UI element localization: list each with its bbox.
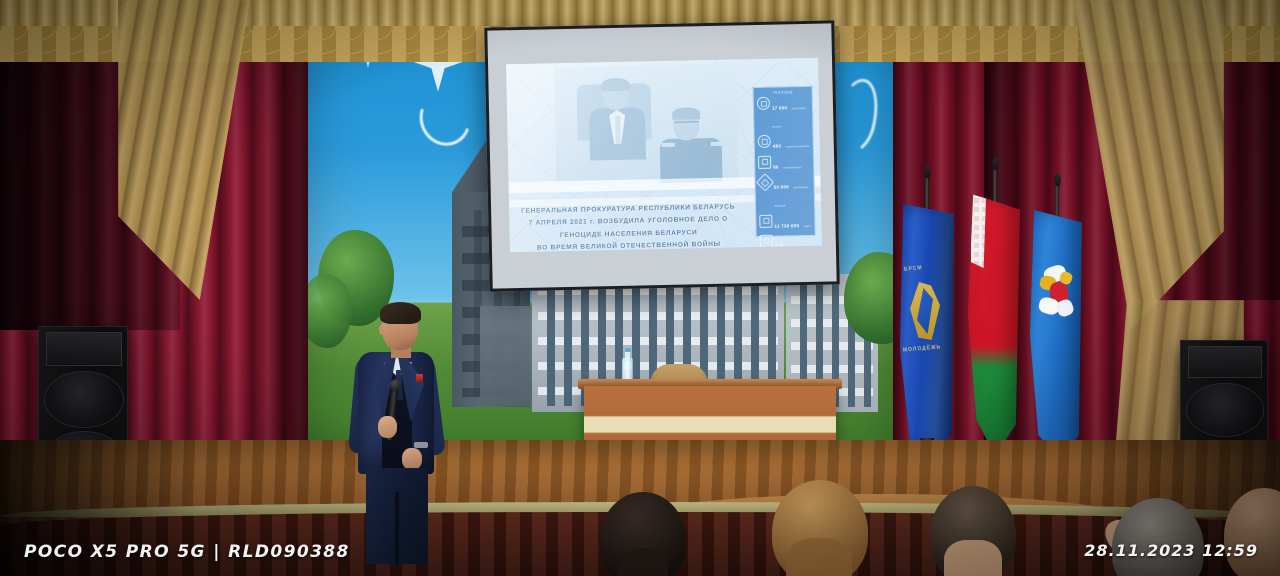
presenter-hand-left	[378, 416, 397, 438]
speaker-woofer	[44, 371, 123, 428]
official-two-epaulette	[662, 143, 675, 147]
compass-icon	[756, 173, 774, 191]
flag-crest-icon	[1038, 264, 1074, 326]
audience-head	[930, 486, 1016, 576]
rail-caption: жертв	[804, 224, 811, 227]
speaker-horn	[46, 332, 122, 366]
rail-row: 50 000 карательных операций	[757, 175, 812, 212]
flag-cloth-emblem	[1030, 210, 1082, 460]
painted-building-small	[480, 306, 540, 406]
rail-title: ГЕНОЦИД	[756, 90, 810, 95]
projection-screen: ГЕНЕРАЛЬНАЯ ПРОКУРАТУРА РЕСПУБЛИКИ БЕЛАР…	[484, 20, 839, 291]
flag-emblem-icon	[910, 282, 940, 340]
official-one-hair	[601, 78, 629, 92]
flag-text-bottom: МОЛОДЁЖЬ	[903, 344, 942, 353]
audience-head	[772, 480, 868, 576]
official-two-hair	[672, 107, 700, 120]
flag-text-top: БРСМ	[904, 265, 923, 273]
presenter	[336, 300, 452, 562]
slide-photo-officials	[554, 63, 738, 185]
lapel-pin-icon	[416, 374, 423, 382]
rail-row: 86 не возрождены	[757, 155, 811, 174]
rail-caption: не возрождены	[783, 166, 801, 169]
rail-row: 230 лагерей смерти	[759, 234, 813, 252]
camera-watermark: POCO X5 PRO 5G | RLD090388	[24, 542, 350, 562]
house-icon	[759, 214, 772, 227]
rail-row: 17 000 населённых пунктов	[756, 96, 811, 133]
rail-row: 11 730 000 жертв	[758, 213, 812, 232]
glasses-icon	[674, 121, 698, 129]
target-icon	[758, 135, 771, 148]
rail-value: 17 000	[772, 105, 787, 110]
presenter-hand-right	[402, 448, 422, 470]
official-two-epaulette	[711, 142, 724, 146]
presenter-hair	[380, 302, 421, 324]
person-icon	[757, 97, 770, 110]
rail-caption: лагерей смерти	[788, 245, 806, 248]
flame-icon	[758, 155, 771, 168]
speaker-horn	[1188, 346, 1262, 378]
rail-value: 86	[773, 164, 779, 169]
photograph: ГЕНЕРАЛЬНАЯ ПРОКУРАТУРА РЕСПУБЛИКИ БЕЛАР…	[0, 0, 1280, 576]
belarus-ornament-pattern	[971, 194, 986, 268]
slide-headline-text: ГЕНЕРАЛЬНАЯ ПРОКУРАТУРА РЕСПУБЛИКИ БЕЛАР…	[513, 201, 744, 252]
document-icon	[760, 235, 773, 248]
rail-value: 483	[773, 144, 781, 149]
date-time-stamp: 28.11.2023 12:59	[1084, 541, 1258, 560]
rail-value: 11 730 000	[774, 223, 799, 229]
flag-cloth-organisation: БРСМ МОЛОДЁЖЬ	[900, 204, 954, 454]
slide-statistics-rail: ГЕНОЦИД 17 000 населённых пунктов 483 со…	[753, 86, 816, 237]
speaker-woofer	[1186, 383, 1264, 438]
rail-row: 483 сожжённых деревни	[757, 134, 811, 153]
official-one-tie	[615, 116, 621, 144]
rail-value: 230	[775, 243, 783, 248]
presentation-slide: ГЕНЕРАЛЬНАЯ ПРОКУРАТУРА РЕСПУБЛИКИ БЕЛАР…	[506, 58, 822, 252]
rail-caption: сожжённых деревни	[786, 145, 810, 148]
presenter-trousers	[366, 468, 428, 564]
rail-value: 50 000	[774, 185, 789, 190]
wristwatch-icon	[414, 442, 428, 448]
